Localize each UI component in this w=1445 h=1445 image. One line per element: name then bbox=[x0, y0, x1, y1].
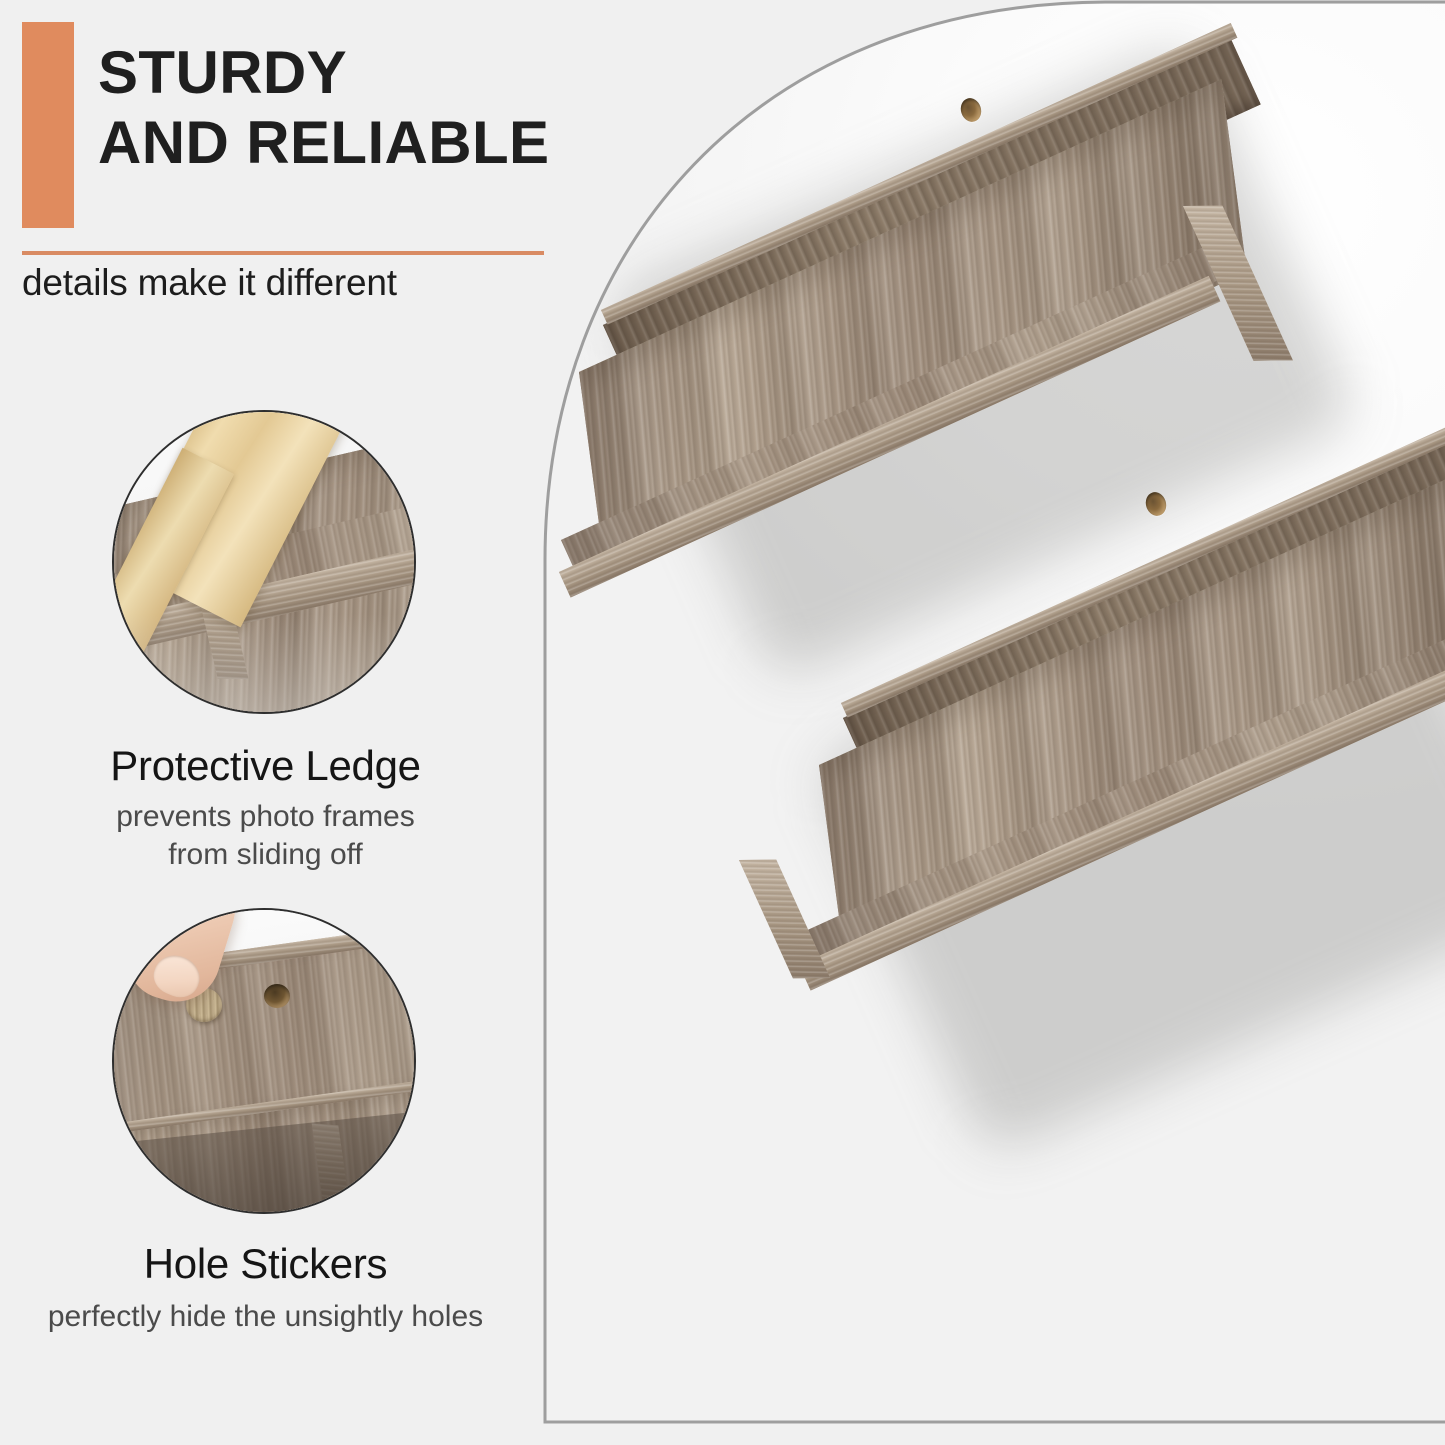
feature-image-hole-stickers bbox=[112, 908, 416, 1214]
arch-path bbox=[545, 2, 1445, 1422]
page-title: STURDY AND RELIABLE bbox=[98, 38, 718, 178]
sticker-scene-mounting-hole bbox=[264, 984, 290, 1008]
orange-divider-rule bbox=[22, 251, 544, 255]
hole-stickers-scene bbox=[112, 908, 416, 1214]
feature-title-hole-stickers: Hole Stickers bbox=[0, 1240, 538, 1288]
feature-description-protective-ledge: prevents photo frames from sliding off bbox=[0, 798, 538, 875]
arch-outline-svg bbox=[543, 0, 1445, 1424]
page-subtitle: details make it different bbox=[22, 262, 397, 304]
ledge-scene-floor-shadow bbox=[112, 614, 416, 714]
protective-ledge-scene bbox=[112, 410, 416, 714]
feature-title-protective-ledge: Protective Ledge bbox=[0, 742, 538, 790]
feature-image-protective-ledge bbox=[112, 410, 416, 714]
arch-frame-outline bbox=[543, 0, 1445, 1424]
marketing-image-canvas: STURDY AND RELIABLE details make it diff… bbox=[0, 0, 1445, 1445]
feature-description-hole-stickers: perfectly hide the unsightly holes bbox=[0, 1298, 538, 1336]
orange-accent-bar bbox=[22, 22, 74, 228]
